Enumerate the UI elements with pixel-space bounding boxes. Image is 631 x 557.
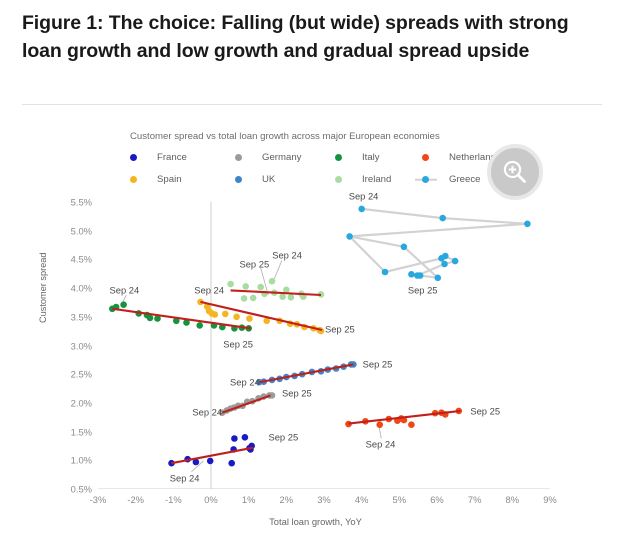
y-tick-label: 3.5% (46, 311, 92, 322)
data-point[interactable] (524, 221, 531, 228)
title-divider (22, 104, 602, 105)
annotation-spain-sep-24: Sep 24 (194, 284, 224, 295)
y-tick-label: 4.0% (46, 283, 92, 294)
y-tick-label: 0.5% (46, 484, 92, 495)
annotation-netherlands-sep-24: Sep 24 (366, 439, 396, 450)
legend-label: Italy (362, 152, 380, 163)
y-tick-label: 1.5% (46, 426, 92, 437)
legend-dot (422, 176, 429, 183)
series-italy (109, 301, 252, 331)
y-axis-ticks: 0.5%1.0%1.5%2.0%2.5%3.0%3.5%4.0%4.5%5.0%… (46, 202, 92, 489)
legend-label: Spain (157, 174, 182, 185)
y-tick-label: 3.0% (46, 340, 92, 351)
data-point[interactable] (233, 314, 240, 321)
scatter-plot-svg (98, 202, 550, 489)
annotation-france-sep-25: Sep 25 (268, 432, 298, 443)
annotation-uk-sep-25: Sep 25 (363, 358, 393, 369)
trendline-italy (112, 309, 250, 329)
annotation-greece-sep-24: Sep 24 (349, 191, 379, 202)
zoom-in-button[interactable] (487, 144, 543, 200)
x-tick-label: 1% (242, 494, 256, 505)
legend-item-greece[interactable]: Greece (422, 174, 480, 185)
y-tick-label: 2.0% (46, 397, 92, 408)
data-point[interactable] (346, 233, 353, 240)
annotation-germany-sep-24: Sep 24 (192, 406, 222, 417)
data-point[interactable] (228, 460, 235, 467)
legend-label: Greece (449, 174, 480, 185)
legend-dot (130, 154, 137, 161)
data-point[interactable] (452, 258, 459, 265)
annotation-netherlands-sep-25: Sep 25 (470, 405, 500, 416)
chart-legend: FranceGermanyItalyNetherlandsSpainUKIrel… (130, 152, 510, 196)
data-point[interactable] (246, 315, 253, 322)
x-tick-label: 4% (355, 494, 369, 505)
x-tick-label: 9% (543, 494, 557, 505)
series-ireland (227, 278, 324, 302)
y-tick-label: 5.0% (46, 225, 92, 236)
legend-row: FranceGermanyItalyNetherlands (130, 152, 510, 174)
legend-item-france[interactable]: France (130, 152, 187, 163)
annotation-germany-sep-25: Sep 25 (282, 388, 312, 399)
x-tick-label: 0% (204, 494, 218, 505)
y-tick-label: 2.5% (46, 369, 92, 380)
plot-area: Sep 24Sep 25Sep 24Sep 25Sep 24Sep 25Sep … (98, 202, 550, 489)
data-point[interactable] (441, 261, 448, 268)
x-tick-label: 2% (280, 494, 294, 505)
greece-connector-path (350, 209, 528, 278)
trendline-germany (222, 395, 270, 412)
annotation-france-sep-24: Sep 24 (170, 472, 200, 483)
annotation-spain-sep-25: Sep 25 (325, 323, 355, 334)
data-point[interactable] (279, 293, 286, 300)
data-point[interactable] (207, 458, 214, 465)
figure-container: Figure 1: The choice: Falling (but wide)… (0, 0, 631, 557)
annotation-uk-sep-24: Sep 24 (230, 376, 260, 387)
data-point[interactable] (250, 295, 257, 302)
data-point[interactable] (269, 278, 276, 285)
data-point[interactable] (147, 315, 154, 322)
x-tick-label: 7% (468, 494, 482, 505)
y-tick-label: 1.0% (46, 455, 92, 466)
legend-dot (130, 176, 137, 183)
data-point[interactable] (231, 435, 238, 442)
data-point[interactable] (288, 294, 295, 301)
legend-label: UK (262, 174, 275, 185)
trendline-uk (259, 364, 353, 382)
legend-item-spain[interactable]: Spain (130, 174, 182, 185)
data-point[interactable] (242, 283, 249, 290)
x-tick-label: -3% (90, 494, 107, 505)
data-point[interactable] (222, 311, 229, 318)
data-point[interactable] (439, 215, 446, 222)
y-tick-label: 4.5% (46, 254, 92, 265)
data-point[interactable] (257, 284, 264, 291)
data-point[interactable] (435, 275, 442, 282)
data-point[interactable] (120, 301, 127, 308)
legend-dot (335, 154, 342, 161)
legend-label: Germany (262, 152, 301, 163)
annotation-ireland-sep-25: Sep 25 (239, 258, 269, 269)
legend-dot (335, 176, 342, 183)
x-tick-label: 6% (430, 494, 444, 505)
annotation-leader-line (274, 261, 282, 281)
annotation-ireland-sep-24: Sep 24 (272, 249, 302, 260)
data-point[interactable] (227, 281, 234, 288)
legend-row: SpainUKIrelandGreece (130, 174, 510, 196)
trendline-spain (200, 302, 322, 330)
chart-card: Customer spread vs total loan growth acr… (14, 118, 617, 548)
data-point[interactable] (212, 311, 219, 318)
legend-label: Ireland (362, 174, 391, 185)
x-tick-label: 8% (506, 494, 520, 505)
legend-dot (235, 154, 242, 161)
data-point[interactable] (382, 269, 389, 276)
annotation-greece-sep-25: Sep 25 (408, 285, 438, 296)
annotation-italy-sep-24: Sep 24 (110, 284, 140, 295)
data-point[interactable] (417, 272, 424, 279)
chart-subtitle: Customer spread vs total loan growth acr… (130, 131, 440, 142)
annotation-italy-sep-25: Sep 25 (223, 338, 253, 349)
legend-item-germany[interactable]: Germany (235, 152, 301, 163)
data-point[interactable] (376, 421, 383, 428)
data-point[interactable] (442, 253, 449, 260)
data-point[interactable] (401, 244, 408, 251)
legend-dot (235, 176, 242, 183)
x-tick-label: -2% (127, 494, 144, 505)
data-point[interactable] (196, 322, 203, 329)
data-point[interactable] (241, 295, 248, 302)
x-tick-label: 3% (317, 494, 331, 505)
y-tick-label: 5.5% (46, 197, 92, 208)
magnifier-plus-icon (500, 157, 530, 187)
legend-line-marker (422, 176, 429, 183)
data-point[interactable] (242, 434, 249, 441)
x-axis-ticks: -3%-2%-1%0%1%2%3%4%5%6%7%8%9% (98, 494, 550, 510)
data-point[interactable] (408, 271, 415, 278)
x-tick-label: 5% (393, 494, 407, 505)
data-point[interactable] (358, 206, 365, 213)
data-point[interactable] (408, 421, 415, 428)
legend-item-italy[interactable]: Italy (335, 152, 380, 163)
x-tick-label: -1% (165, 494, 182, 505)
legend-item-uk[interactable]: UK (235, 174, 275, 185)
legend-item-ireland[interactable]: Ireland (335, 174, 391, 185)
legend-dot (422, 154, 429, 161)
figure-title: Figure 1: The choice: Falling (but wide)… (22, 10, 582, 65)
x-axis-title: Total loan growth, YoY (14, 516, 617, 527)
legend-label: France (157, 152, 187, 163)
